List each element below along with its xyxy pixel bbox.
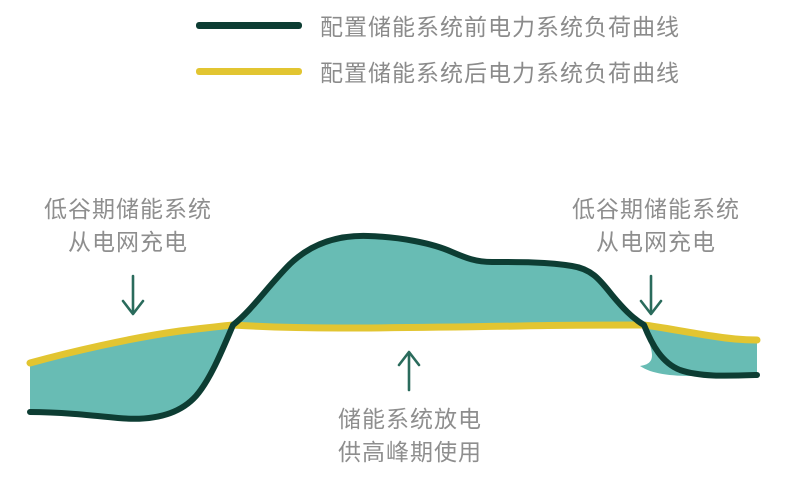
- annotation-right-line1: 低谷期储能系统: [542, 194, 770, 227]
- down-arrow-icon: [636, 274, 666, 318]
- annotation-left-charge: 低谷期储能系统 从电网充电: [14, 194, 242, 259]
- legend-item-after[interactable]: 配置储能系统后电力系统负荷曲线: [196, 48, 776, 94]
- annotation-right-charge: 低谷期储能系统 从电网充电: [542, 194, 770, 259]
- legend: 配置储能系统前电力系统负荷曲线 配置储能系统后电力系统负荷曲线: [196, 2, 776, 94]
- down-arrow-icon: [118, 274, 148, 318]
- annotation-center-line2: 供高峰期使用: [300, 437, 520, 470]
- legend-item-before[interactable]: 配置储能系统前电力系统负荷曲线: [196, 2, 776, 48]
- up-arrow-icon: [394, 348, 424, 392]
- legend-label-before: 配置储能系统前电力系统负荷曲线: [320, 8, 680, 42]
- annotation-right-line2: 从电网充电: [542, 227, 770, 260]
- line-swatch-dark-green-icon: [196, 22, 302, 29]
- annotation-center-line1: 储能系统放电: [300, 404, 520, 437]
- annotation-left-line1: 低谷期储能系统: [14, 194, 242, 227]
- annotation-left-line2: 从电网充电: [14, 227, 242, 260]
- annotation-center-discharge: 储能系统放电 供高峰期使用: [300, 404, 520, 469]
- chart-container: 配置储能系统前电力系统负荷曲线 配置储能系统后电力系统负荷曲线 低谷期储能系统 …: [0, 0, 788, 491]
- line-swatch-yellow-icon: [196, 68, 302, 75]
- legend-label-after: 配置储能系统后电力系统负荷曲线: [320, 54, 680, 88]
